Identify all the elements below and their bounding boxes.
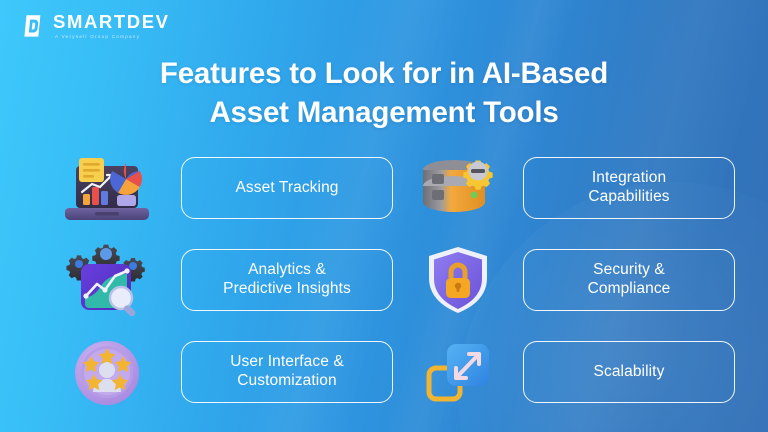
- feature-label-line-2: Compliance: [588, 280, 671, 299]
- feature-label-line-1: Scalability: [594, 363, 665, 382]
- page-title-line-1: Features to Look for in AI-Based: [0, 54, 768, 93]
- feature-pill-integration-capabilities[interactable]: Integration Capabilities: [523, 157, 735, 219]
- feature-label-line-2: Customization: [230, 372, 344, 391]
- feature-label-line-2: Capabilities: [588, 188, 669, 207]
- shield-padlock-icon: [393, 240, 523, 320]
- feature-pill-analytics-predictive-insights[interactable]: Analytics & Predictive Insights: [181, 249, 393, 311]
- feature-label-line-1: Security &: [588, 261, 671, 280]
- database-gear-icon: [393, 148, 523, 228]
- brand-tagline: A Verysell Group Company: [55, 35, 170, 40]
- feature-pill-user-interface-customization[interactable]: User Interface & Customization: [181, 341, 393, 403]
- brand-name: SMARTDEV: [53, 13, 170, 32]
- brand-logo[interactable]: SMARTDEV A Verysell Group Company: [20, 13, 170, 39]
- feature-pill-scalability[interactable]: Scalability: [523, 341, 735, 403]
- slide-canvas: SMARTDEV A Verysell Group Company Featur…: [0, 0, 768, 432]
- smartdev-logo-mark-icon: [20, 13, 45, 39]
- gears-chart-magnifier-icon: [33, 240, 181, 320]
- features-grid: Asset Tracking: [0, 148, 768, 412]
- page-title-line-2: Asset Management Tools: [0, 93, 768, 132]
- feature-label-line-1: Analytics &: [223, 261, 351, 280]
- feature-label-line-1: Asset Tracking: [235, 179, 338, 198]
- user-five-stars-icon: [33, 332, 181, 412]
- feature-pill-asset-tracking[interactable]: Asset Tracking: [181, 157, 393, 219]
- page-title: Features to Look for in AI-Based Asset M…: [0, 54, 768, 132]
- feature-pill-security-compliance[interactable]: Security & Compliance: [523, 249, 735, 311]
- feature-label-line-1: User Interface &: [230, 353, 344, 372]
- brand-logo-text: SMARTDEV A Verysell Group Company: [53, 13, 170, 39]
- feature-label-line-1: Integration: [588, 169, 669, 188]
- resize-arrow-squares-icon: [393, 332, 523, 412]
- laptop-analytics-icon: [33, 148, 181, 228]
- feature-label-line-2: Predictive Insights: [223, 280, 351, 299]
